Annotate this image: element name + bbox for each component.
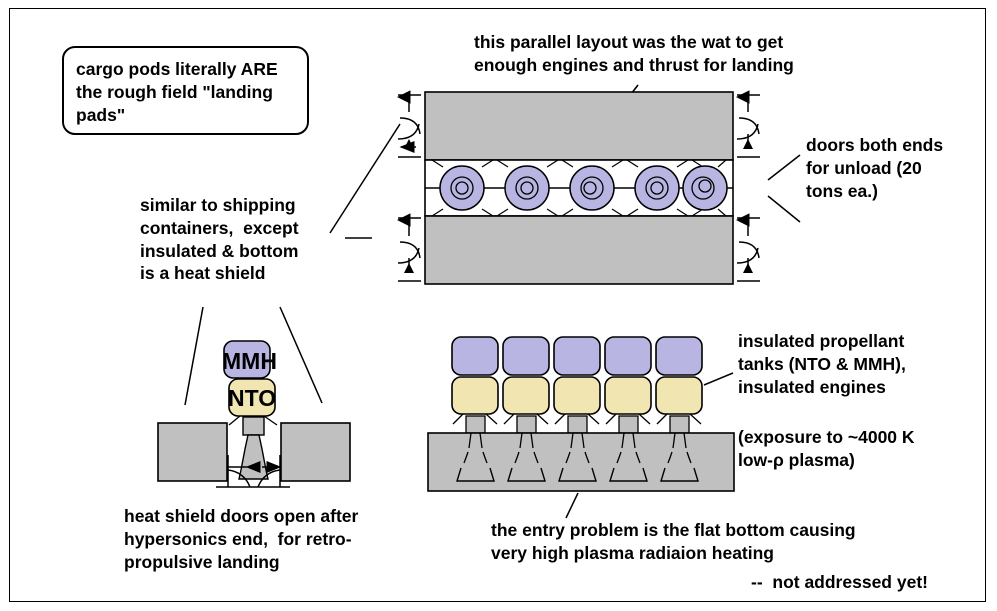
leader-doors-both-ends [768,155,800,222]
side-engine-head-5 [657,414,701,433]
side-tank-nto-4 [605,377,651,414]
side-hull-body [428,433,734,491]
dimension-left-lower [398,218,421,281]
detail-engine-nozzle [239,435,268,479]
leader-entry-problem [566,493,578,518]
annotation-shipping-containers: similar to shipping containers, except i… [140,194,299,285]
side-tank-mmh-3 [554,337,600,375]
annotation-heat-shield-doors: heat shield doors open after hypersonics… [124,505,358,573]
detail-tank-label-nto: NTO [228,385,276,412]
plan-cargo-block-upper [425,92,733,160]
annotation-plasma-exposure: (exposure to ~4000 K low-ρ plasma) [738,426,915,472]
side-engine-head-4 [606,414,650,433]
annotation-entry-problem: the entry problem is the flat bottom cau… [491,519,856,565]
detail-engine-head [243,417,264,435]
detail-heat-shield-door-right [281,423,350,481]
detail-tank-label-mmh: MMH [222,348,277,375]
annotation-parallel-layout: this parallel layout was the wat to get … [474,31,794,77]
diagram-canvas: cargo pods literally ARE the rough field… [0,0,997,611]
side-tank-nto-1 [452,377,498,414]
side-tank-nto-2 [503,377,549,414]
leader-shipping-containers [330,124,400,238]
plan-cargo-block-lower [425,216,733,284]
annotation-not-addressed: -- not addressed yet! [751,571,928,594]
callout-cargo-pods-text: cargo pods literally ARE the rough field… [76,58,307,126]
side-tank-mmh-1 [452,337,498,375]
side-tank-mmh-4 [605,337,651,375]
dimension-right-lower [737,218,760,281]
dimension-left-upper [398,95,421,157]
leader-insulated-tanks [704,373,733,385]
side-view-group [428,337,734,518]
side-tank-nto-5 [656,377,702,414]
annotation-insulated-tanks: insulated propellant tanks (NTO & MMH), … [738,330,906,398]
side-engine-head-3 [555,414,599,433]
callout-cargo-pods: cargo pods literally ARE the rough field… [62,46,309,135]
side-tank-mmh-5 [656,337,702,375]
side-tank-nto-3 [554,377,600,414]
side-tank-mmh-2 [503,337,549,375]
annotation-doors-both-ends: doors both ends for unload (20 tons ea.) [806,134,943,202]
detail-heat-shield-door-left [158,423,227,481]
dimension-right-upper [737,95,760,157]
side-engine-head-1 [453,414,497,433]
plan-view-group [330,92,800,284]
side-engine-head-2 [504,414,548,433]
